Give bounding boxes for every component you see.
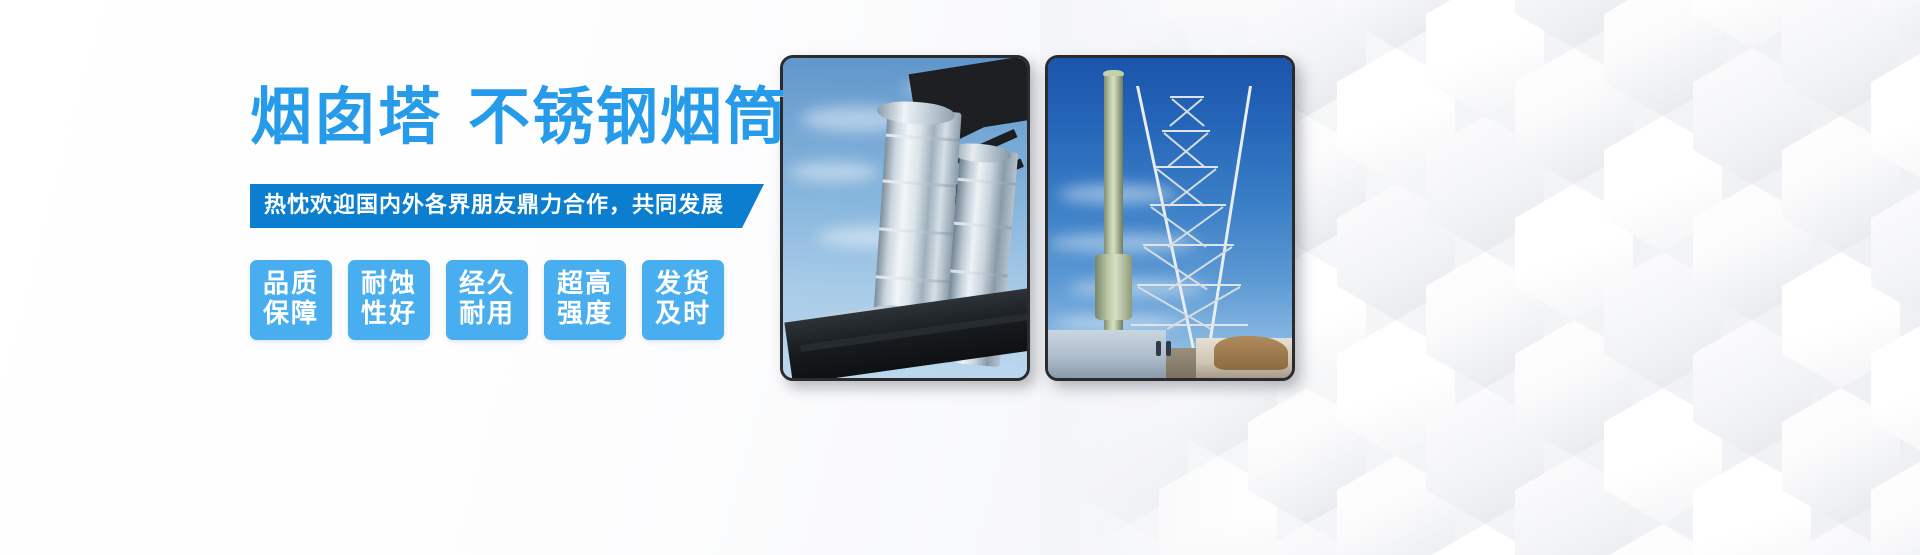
lattice-steel-frame [1126,86,1254,358]
worker-figure [1156,341,1161,356]
photo-lattice-steel-chimney-tower[interactable] [1045,55,1295,381]
plant-building-left [1048,330,1166,378]
badge-line-2: 保障 [263,299,319,329]
headline-part-2: 不锈钢烟筒 [468,80,788,153]
badge-line-1: 发货 [655,269,711,299]
subtitle-text: 热忱欢迎国内外各界朋友鼎力合作，共同发展 [264,193,724,219]
product-banner: 烟囱塔不锈钢烟筒 热忱欢迎国内外各界朋友鼎力合作，共同发展 品质 保障 耐蚀 性… [0,0,1920,555]
badge-line-1: 经久 [459,269,515,299]
dirt-mound [1214,336,1288,370]
badge-line-2: 强度 [557,299,613,329]
badge-line-2: 及时 [655,299,711,329]
badge-line-2: 耐用 [459,299,515,329]
page-title: 烟囱塔不锈钢烟筒 [250,86,788,148]
subtitle-bar-wrap: 热忱欢迎国内外各界朋友鼎力合作，共同发展 [250,184,788,228]
cloud [789,162,879,182]
feature-badge-quality[interactable]: 品质 保障 [250,260,332,340]
badge-line-1: 品质 [263,269,319,299]
feature-badge-durable[interactable]: 经久 耐用 [446,260,528,340]
flue-gas-drum [1095,254,1132,320]
badge-line-1: 耐蚀 [361,269,417,299]
chimney-flue [1104,76,1123,364]
badge-line-1: 超高 [557,269,613,299]
feature-badge-list: 品质 保障 耐蚀 性好 经久 耐用 超高 强度 发货 及时 [250,260,788,340]
worker-figure [1166,341,1171,356]
feature-badge-corrosion[interactable]: 耐蚀 性好 [348,260,430,340]
photo-stainless-steel-chimney-stacks[interactable] [780,55,1030,381]
tower-leg [1206,86,1252,358]
feature-badge-strength[interactable]: 超高 强度 [544,260,626,340]
badge-line-2: 性好 [361,299,417,329]
feature-badge-delivery[interactable]: 发货 及时 [642,260,724,340]
subtitle-bar: 热忱欢迎国内外各界朋友鼎力合作，共同发展 [250,184,764,228]
banner-copy-block: 烟囱塔不锈钢烟筒 热忱欢迎国内外各界朋友鼎力合作，共同发展 品质 保障 耐蚀 性… [250,86,788,340]
headline-part-1: 烟囱塔 [250,80,442,153]
